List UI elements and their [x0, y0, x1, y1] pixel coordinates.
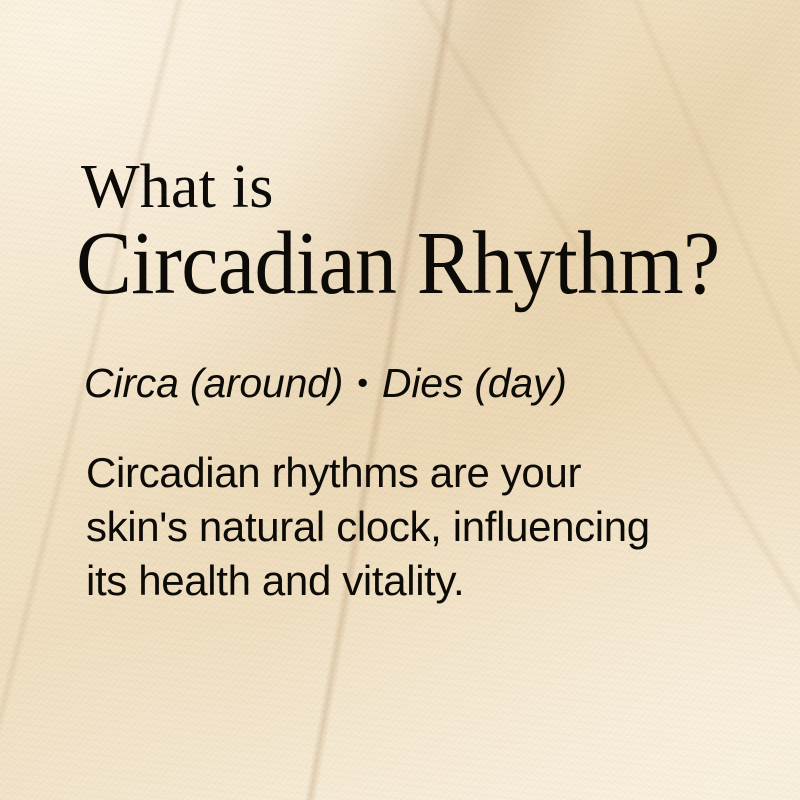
circadian-rhythm-card: What is Circadian Rhythm? Circa (around)…	[0, 0, 800, 800]
body-description: Circadian rhythms are your skin's natura…	[86, 446, 726, 608]
body-line-1: Circadian rhythms are your	[86, 446, 726, 500]
body-line-2: skin's natural clock, influencing	[86, 500, 726, 554]
etymology-tagline: Circa (around)•Dies (day)	[84, 360, 776, 410]
eyebrow-text: What is	[81, 154, 776, 220]
page-title: Circadian Rhythm?	[76, 216, 727, 312]
bullet-separator-icon: •	[343, 360, 382, 406]
text-content-block: What is Circadian Rhythm? Circa (around)…	[76, 154, 776, 608]
body-line-3: its health and vitality.	[86, 554, 726, 608]
tagline-left-term: Circa (around)	[84, 360, 343, 406]
tagline-right-term: Dies (day)	[382, 360, 567, 406]
